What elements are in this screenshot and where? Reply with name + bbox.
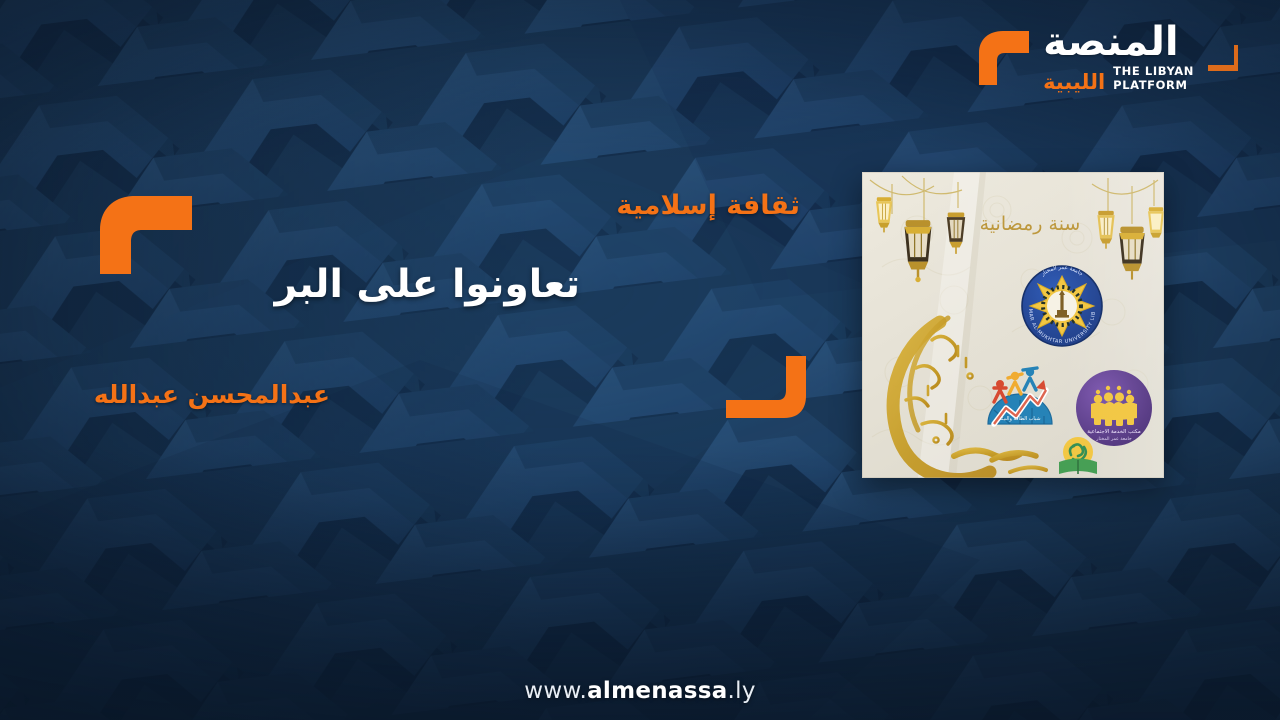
brand-logo[interactable]: المنصة THE LIBYAN PLATFORM الليبية: [971, 22, 1240, 93]
page-title: تعاونوا على البر: [275, 262, 580, 307]
footer-website-url[interactable]: www.almenassa.ly: [0, 678, 1280, 704]
url-brand: almenassa: [587, 678, 727, 704]
hook-mark-icon: [971, 27, 1033, 89]
brand-subtitle-row: THE LIBYAN PLATFORM الليبية: [1043, 65, 1194, 93]
brand-en-line1: THE LIBYAN: [1113, 65, 1194, 79]
brand-name-english: THE LIBYAN PLATFORM: [1113, 65, 1194, 93]
brand-name-arabic-sub: الليبية: [1043, 72, 1105, 93]
thumbnail-artwork: سنة رمضانية: [862, 172, 1164, 478]
brand-en-line2: PLATFORM: [1113, 79, 1187, 93]
hook-tick-icon: [1204, 43, 1238, 73]
title-card-stage: المنصة THE LIBYAN PLATFORM الليبية ثقافة…: [0, 0, 1280, 720]
quote-bracket-close-icon: [726, 356, 806, 418]
thumbnail-image[interactable]: سنة رمضانية: [862, 172, 1164, 478]
brand-text-block: المنصة THE LIBYAN PLATFORM الليبية: [1043, 22, 1194, 93]
quote-bracket-open-icon: [100, 196, 192, 274]
brand-name-arabic: المنصة: [1043, 22, 1179, 62]
author-name: عبدالمحسن عبدالله: [94, 380, 330, 409]
category-label: ثقافة إسلامية: [616, 190, 800, 221]
url-prefix: www.: [524, 678, 587, 704]
url-suffix: .ly: [728, 678, 756, 704]
